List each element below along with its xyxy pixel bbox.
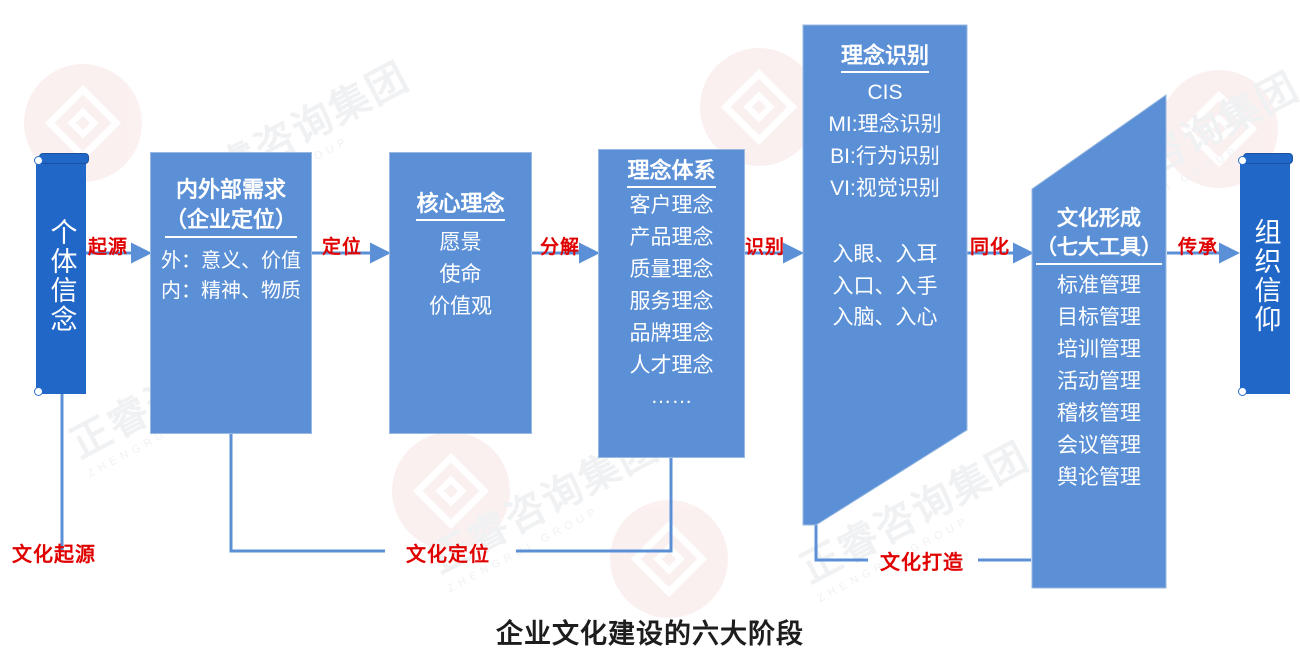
phase-label-3: 文化打造 [880, 546, 964, 575]
stage3-line-5: 品牌理念 [630, 318, 714, 350]
stage4-title: 理念识别 [841, 41, 929, 73]
stage2-line-3: 价值观 [429, 291, 492, 323]
stage1-line-2: 内：精神、物质 [161, 276, 301, 306]
stage4-line2-1: 入眼、入耳 [833, 239, 938, 271]
watermark-text-sub: ZHENGRUI GROUP [446, 466, 674, 595]
diagram-canvas: 正睿咨询集团 ZHENGRUI GROUP 正睿咨询集团 ZHENGRUI GR… [0, 0, 1300, 664]
stage1-line-1: 外：意义、价值 [161, 246, 301, 276]
node-stage3[interactable]: 理念体系 客户理念 产品理念 质量理念 服务理念 品牌理念 人才理念 …… [598, 149, 745, 458]
stage3-title: 理念体系 [627, 156, 715, 188]
stage4-line2-3: 入脑、入心 [833, 302, 938, 334]
watermark-logo [610, 500, 728, 618]
stage3-line-7: …… [651, 381, 693, 413]
phase-label-1: 文化起源 [12, 538, 96, 567]
stage4-line-3: BI:行为识别 [830, 141, 940, 173]
stage3-line-1: 客户理念 [630, 190, 714, 222]
phase-wire-2a [231, 434, 385, 551]
arrow-label-6: 传承 [1178, 232, 1218, 259]
resize-handle-top[interactable] [1243, 153, 1293, 164]
node-start[interactable]: 个体信念 [36, 158, 86, 394]
stage5-line-4: 活动管理 [1057, 366, 1141, 398]
resize-handle-dot[interactable] [1238, 387, 1247, 396]
phase-wire-3a [816, 525, 868, 560]
node-start-label: 个体信念 [37, 159, 85, 393]
resize-handle-dot[interactable] [1238, 156, 1247, 165]
diagram-caption: 企业文化建设的六大阶段 [0, 612, 1300, 651]
stage5-line-5: 稽核管理 [1057, 398, 1141, 430]
stage4-line-1: CIS [867, 77, 902, 109]
stage4-line2-2: 入口、入手 [833, 271, 938, 303]
stage4-line-4: VI:视觉识别 [830, 173, 940, 205]
arrow-label-2: 定位 [322, 232, 362, 259]
node-stage2[interactable]: 核心理念 愿景 使命 价值观 [389, 152, 532, 434]
stage3-line-3: 质量理念 [630, 254, 714, 286]
phase-wire-2b [516, 458, 671, 551]
arrow-label-4: 识别 [745, 232, 785, 259]
stage5-title-line2: （七大工具） [1036, 234, 1162, 266]
stage4-line-2: MI:理念识别 [828, 109, 941, 141]
stage5-line-7: 舆论管理 [1057, 462, 1141, 494]
stage3-line-4: 服务理念 [630, 286, 714, 318]
stage5-line-6: 会议管理 [1057, 430, 1141, 462]
phase-label-2: 文化定位 [406, 538, 490, 567]
resize-handle-dot[interactable] [34, 156, 43, 165]
stage3-line-6: 人才理念 [630, 350, 714, 382]
stage1-title-line2: （企业定位） [165, 205, 297, 238]
node-stage5[interactable]: 文化形成 （七大工具） 标准管理 目标管理 培训管理 活动管理 稽核管理 会议管… [1032, 205, 1166, 588]
stage1-title-line1: 内外部需求 [176, 175, 286, 205]
watermark-logo [392, 432, 510, 550]
stage5-line-3: 培训管理 [1057, 334, 1141, 366]
stage2-line-2: 使命 [440, 259, 482, 291]
stage2-title: 核心理念 [416, 189, 504, 221]
stage3-line-2: 产品理念 [630, 222, 714, 254]
node-stage4[interactable]: 理念识别 CIS MI:理念识别 BI:行为识别 VI:视觉识别 入眼、入耳 入… [803, 25, 967, 525]
stage5-line-1: 标准管理 [1057, 270, 1141, 302]
arrow-label-5: 同化 [970, 232, 1010, 259]
arrow-label-3: 分解 [540, 232, 580, 259]
stage5-line-2: 目标管理 [1057, 302, 1141, 334]
node-stage1[interactable]: 内外部需求 （企业定位） 外：意义、价值 内：精神、物质 [150, 152, 312, 434]
stage2-line-1: 愿景 [440, 227, 482, 259]
arrow-label-1: 起源 [88, 232, 128, 259]
node-end-label: 组织信仰 [1241, 159, 1289, 393]
resize-handle-dot[interactable] [34, 387, 43, 396]
node-end[interactable]: 组织信仰 [1240, 158, 1290, 394]
resize-handle-top[interactable] [39, 153, 89, 164]
stage5-title-line1: 文化形成 [1057, 205, 1141, 234]
